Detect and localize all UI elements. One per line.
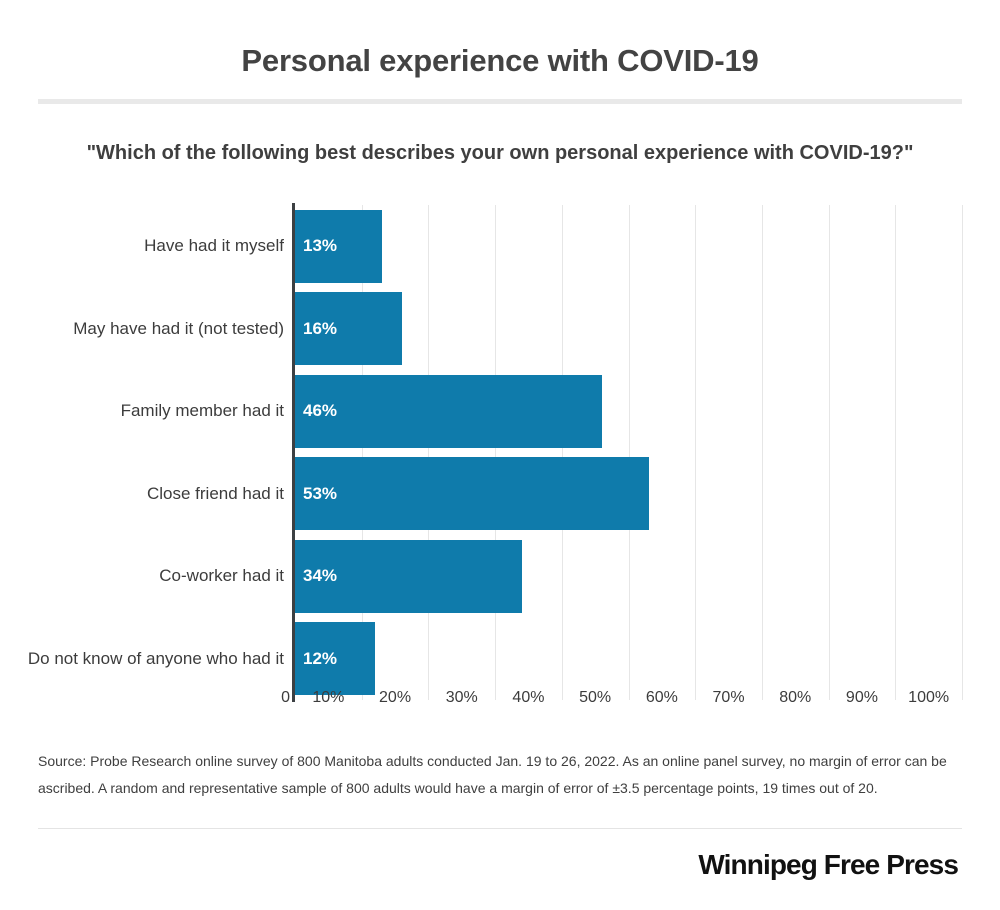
- category-label: May have had it (not tested): [14, 318, 284, 340]
- category-label-row: Family member had it: [12, 375, 284, 448]
- x-tick-label: 20%: [365, 688, 425, 708]
- category-label: Do not know of anyone who had it: [14, 648, 284, 670]
- footer-divider: [38, 828, 962, 829]
- category-label: Co-worker had it: [14, 565, 284, 587]
- category-label-row: Have had it myself: [12, 210, 284, 283]
- category-axis-labels: Have had it myselfMay have had it (not t…: [12, 205, 284, 700]
- bar-value-label: 13%: [303, 236, 337, 256]
- bar-value-label: 53%: [303, 484, 337, 504]
- category-label-row: Co-worker had it: [12, 540, 284, 613]
- bar: [295, 375, 602, 448]
- bar-group: 46%: [295, 375, 962, 448]
- bar-group: 34%: [295, 540, 962, 613]
- category-label-row: Close friend had it: [12, 457, 284, 530]
- x-tick-label: 100%: [899, 688, 959, 708]
- bar: [295, 457, 649, 530]
- x-tick-label: 70%: [699, 688, 759, 708]
- x-tick-label: 80%: [765, 688, 825, 708]
- gridline: [962, 205, 963, 700]
- category-label-row: May have had it (not tested): [12, 292, 284, 365]
- x-axis-ticks: 10%20%30%40%50%60%70%80%90%100%: [295, 688, 962, 714]
- source-note: Source: Probe Research online survey of …: [38, 748, 962, 802]
- bar-group: 16%: [295, 292, 962, 365]
- bar-group: 53%: [295, 457, 962, 530]
- x-tick-label: 60%: [632, 688, 692, 708]
- x-tick-label: 40%: [498, 688, 558, 708]
- bar-value-label: 12%: [303, 649, 337, 669]
- bar-value-label: 34%: [303, 566, 337, 586]
- category-label-row: Do not know of anyone who had it: [12, 622, 284, 695]
- x-tick-zero: 0: [272, 688, 290, 708]
- brand-logo: Winnipeg Free Press: [698, 848, 958, 882]
- bar-group: 12%: [295, 622, 962, 695]
- chart-page: Personal experience with COVID-19 "Which…: [0, 0, 1000, 910]
- x-tick-label: 10%: [298, 688, 358, 708]
- bar-series: 13%16%46%53%34%12%: [295, 205, 962, 700]
- category-label: Have had it myself: [14, 235, 284, 257]
- bar-group: 13%: [295, 210, 962, 283]
- category-label: Family member had it: [14, 400, 284, 422]
- category-label: Close friend had it: [14, 483, 284, 505]
- bar-value-label: 16%: [303, 319, 337, 339]
- x-tick-label: 50%: [565, 688, 625, 708]
- x-tick-label: 90%: [832, 688, 892, 708]
- bar-value-label: 46%: [303, 401, 337, 421]
- x-tick-label: 30%: [432, 688, 492, 708]
